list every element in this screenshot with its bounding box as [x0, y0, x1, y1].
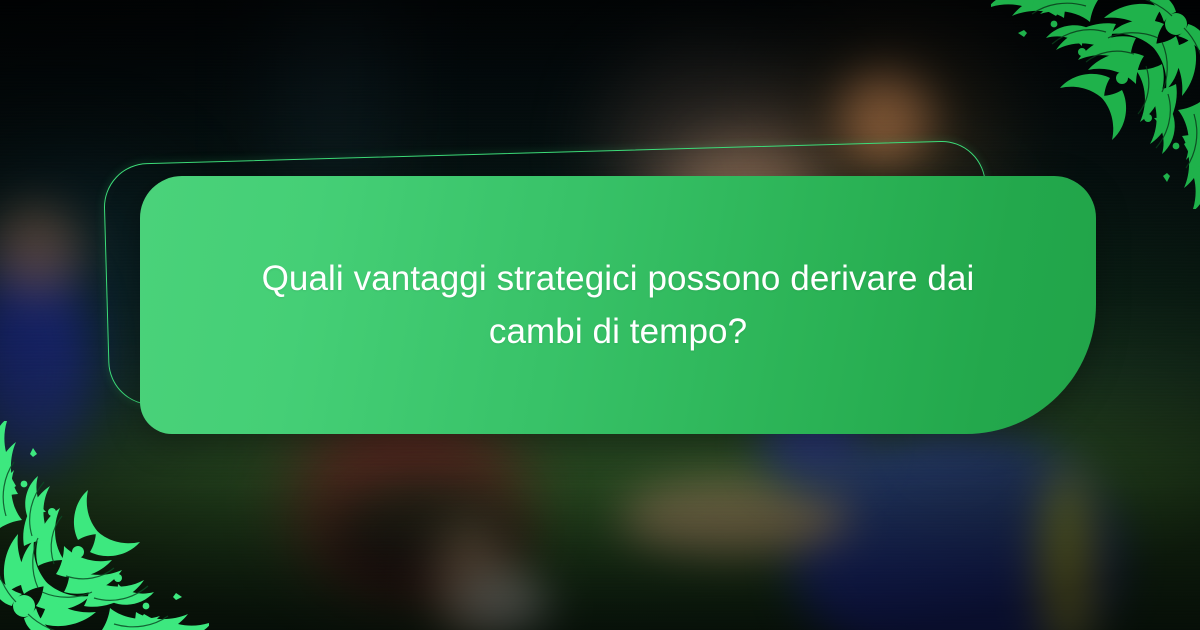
question-card: Quali vantaggi strategici possono deriva… — [140, 176, 1096, 434]
question-title: Quali vantaggi strategici possono deriva… — [199, 252, 1037, 358]
social-share-card: Quali vantaggi strategici possono deriva… — [0, 0, 1200, 630]
